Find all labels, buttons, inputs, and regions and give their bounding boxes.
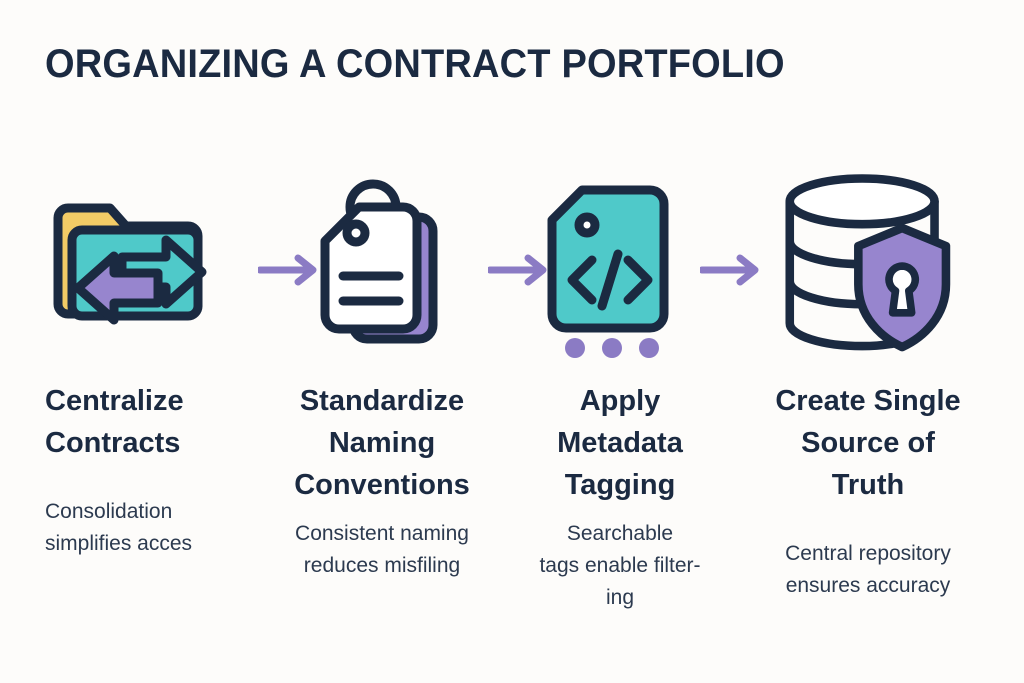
step-4-title-line: Source of Truth: [766, 422, 970, 506]
tag-eyelet-hole: [347, 224, 365, 242]
tags-icon: [295, 173, 475, 363]
step-2-description: Consistent naming reduces misfiling: [262, 518, 502, 582]
code-tag-shape: [552, 190, 664, 328]
database-shield-icon: [765, 168, 965, 368]
infographic-canvas: ORGANIZING A CONTRACT PORTFOLIO: [0, 0, 1024, 683]
step-1-text-column: Centralize Contracts Consolidation simpl…: [25, 380, 265, 560]
step-2-description-line: reduces misfiling: [276, 550, 488, 582]
tag-dot-2: [602, 338, 622, 358]
step-1-icon-container: [40, 165, 240, 370]
arrow-step-3-to-4: [700, 253, 764, 287]
step-4-description-line: Central repository: [762, 538, 974, 570]
right-arrow-icon: [488, 253, 552, 287]
step-1-description: Consolidation simplifies acces: [25, 496, 265, 560]
step-4-title-line: Create Single: [766, 380, 970, 422]
step-3-title: Apply Metadata Tagging: [500, 380, 740, 506]
right-arrow-icon: [258, 253, 322, 287]
step-3-description-line: Searchable: [514, 518, 726, 550]
step-3-title-line: Metadata: [518, 422, 722, 464]
step-2-text-column: Standardize Naming Conventions Consisten…: [262, 380, 502, 582]
step-3-description-line: tags enable filter-: [514, 550, 726, 582]
step-3-description-line: ing: [514, 582, 726, 614]
step-1-title-line: Centralize: [45, 380, 259, 422]
right-arrow-icon: [700, 253, 764, 287]
step-2-description-line: Consistent naming: [276, 518, 488, 550]
arrow-step-2-to-3: [488, 253, 552, 287]
code-tag-eyelet-hole: [579, 217, 595, 233]
page-title: ORGANIZING A CONTRACT PORTFOLIO: [45, 42, 785, 87]
tag-front-shape: [325, 207, 417, 329]
step-3-title-line: Tagging: [518, 464, 722, 506]
step-4-title: Create Single Source of Truth: [748, 380, 988, 506]
folder-exchange-icon: [40, 178, 240, 358]
step-3-title-line: Apply: [518, 380, 722, 422]
step-2-title-line: Naming: [280, 422, 484, 464]
step-3-text-column: Apply Metadata Tagging Searchable tags e…: [500, 380, 740, 614]
tag-dot-3: [639, 338, 659, 358]
step-2-title: Standardize Naming Conventions: [262, 380, 502, 506]
step-2-title-line: Conventions: [280, 464, 484, 506]
step-4-text-column: Create Single Source of Truth Central re…: [748, 380, 988, 602]
step-1-description-line: Consolidation: [45, 496, 265, 528]
step-4-description-line: ensures accuracy: [762, 570, 974, 602]
database-top-ellipse: [790, 178, 935, 224]
step-1-title-line: Contracts: [45, 422, 259, 464]
shield-keyhole-icon: [889, 266, 915, 313]
arrow-step-1-to-2: [258, 253, 322, 287]
step-text-columns: Centralize Contracts Consolidation simpl…: [0, 380, 1024, 670]
step-2-title-line: Standardize: [280, 380, 484, 422]
process-flow-row: [0, 165, 1024, 370]
step-1-description-line: simplifies acces: [45, 528, 265, 560]
metadata-code-tag-icon: [530, 168, 700, 368]
step-4-icon-container: [765, 165, 965, 370]
step-4-description: Central repository ensures accuracy: [748, 538, 988, 602]
step-3-description: Searchable tags enable filter- ing: [500, 518, 740, 614]
step-1-title: Centralize Contracts: [25, 380, 265, 464]
tag-dot-1: [565, 338, 585, 358]
